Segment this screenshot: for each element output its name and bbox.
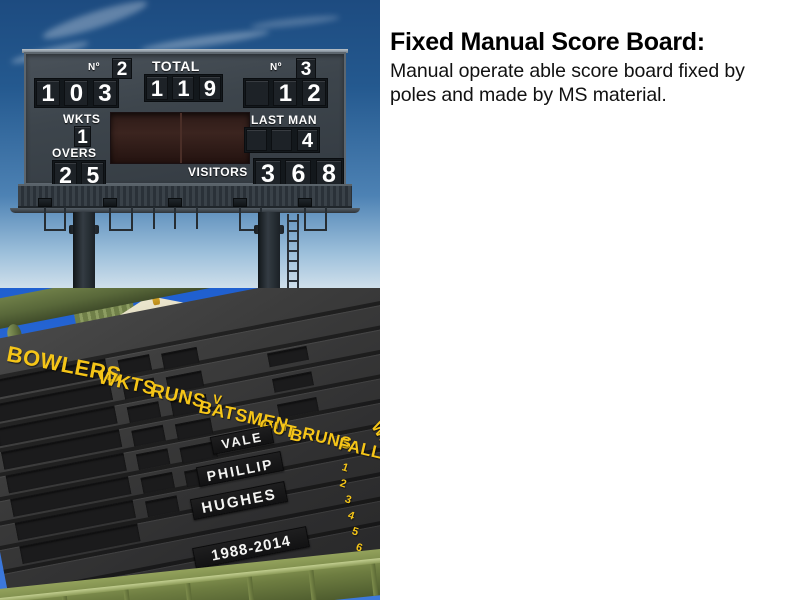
digit-strip: 1 2 — [243, 78, 328, 108]
digit-tile: 1 — [74, 126, 91, 147]
slide-root: Nº 2 1 0 3 TOTAL 1 1 9 Nº 3 — [0, 0, 800, 600]
description-panel: Fixed Manual Score Board: Manual operate… — [390, 28, 782, 108]
floodlight-fixture — [38, 198, 52, 207]
digit-strip: 4 — [244, 127, 320, 153]
support-bracket — [109, 207, 111, 229]
support-bracket — [153, 207, 155, 229]
digit-tile-blank — [246, 129, 267, 151]
board-service-shelf — [10, 208, 360, 213]
beam-post — [370, 564, 378, 596]
scoreboard-recess — [110, 112, 250, 164]
last-man-label: LAST MAN — [251, 113, 317, 127]
support-pole-left — [73, 212, 95, 288]
beam-post — [247, 577, 255, 600]
digit-tile: 3 — [93, 80, 117, 106]
support-bracket — [64, 207, 66, 229]
support-bracket — [109, 229, 133, 231]
digit-tile-blank — [271, 129, 292, 151]
batsman-left-no-label: Nº — [88, 62, 100, 73]
support-bracket — [174, 207, 176, 229]
beam-post — [185, 583, 193, 600]
floodlight-fixture — [168, 198, 182, 207]
floodlight-fixture — [233, 198, 247, 207]
digit-tile: 9 — [199, 76, 221, 100]
digit-tile-blank — [245, 80, 269, 106]
batsman-left-runs: 1 0 3 — [34, 78, 119, 108]
cloud-wisp — [40, 0, 150, 45]
wickets-value: 1 — [74, 126, 91, 147]
digit-tile: 1 — [172, 76, 194, 100]
page-title: Fixed Manual Score Board: — [390, 28, 782, 56]
digit-tile: 1 — [273, 80, 297, 106]
support-bracket — [304, 229, 327, 231]
cloud-wisp — [250, 13, 340, 30]
access-ladder — [287, 214, 299, 288]
overs-label: OVERS — [52, 146, 97, 160]
support-bracket — [304, 207, 306, 229]
digit-tile: 2 — [112, 58, 132, 79]
beam-post — [123, 589, 131, 600]
beam-post — [62, 596, 70, 600]
floodlight-fixture — [103, 198, 117, 207]
support-bracket — [239, 207, 241, 229]
wickets-label: WKTS — [63, 112, 100, 126]
support-bracket — [44, 229, 66, 231]
digit-tile: 6 — [285, 160, 311, 187]
digit-tile: 3 — [296, 58, 316, 79]
floodlight-fixture — [298, 198, 312, 207]
visitors-label: VISITORS — [188, 165, 248, 179]
digit-tile: 4 — [297, 129, 318, 151]
digit-tile: 3 — [255, 160, 281, 187]
batsman-right-no-value: 3 — [296, 58, 316, 79]
digit-tile: 8 — [316, 160, 342, 187]
support-bracket — [131, 207, 133, 229]
support-bracket — [325, 207, 327, 229]
description-text: Manual operate able score board fixed by… — [390, 59, 782, 108]
digit-tile: 1 — [36, 80, 60, 106]
photo-manual-scoreboard-billboard: Nº 2 1 0 3 TOTAL 1 1 9 Nº 3 — [0, 0, 380, 288]
total-value: 1 1 9 — [144, 74, 223, 102]
digit-tile: 1 — [146, 76, 168, 100]
batsman-right-no-label: Nº — [270, 62, 282, 73]
last-man-value: 4 — [244, 127, 320, 153]
digit-tile: 2 — [302, 80, 326, 106]
score-slot — [175, 418, 213, 441]
batsman-left-no-value: 2 — [112, 58, 132, 79]
support-pole-right — [258, 212, 280, 288]
support-bracket — [44, 207, 46, 229]
digit-tile: 0 — [64, 80, 88, 106]
score-slot — [161, 347, 199, 370]
digit-strip: 1 1 9 — [144, 74, 223, 102]
digit-strip: 1 0 3 — [34, 78, 119, 108]
total-label: TOTAL — [152, 58, 200, 74]
photo-stadium-memorial-scoreboard: BOWLERS WKTS RUNS V BATSMEN OUT B RUNS F… — [0, 288, 380, 600]
support-bracket — [196, 207, 198, 229]
beam-post — [308, 570, 316, 600]
batsman-right-runs: 1 2 — [243, 78, 328, 108]
